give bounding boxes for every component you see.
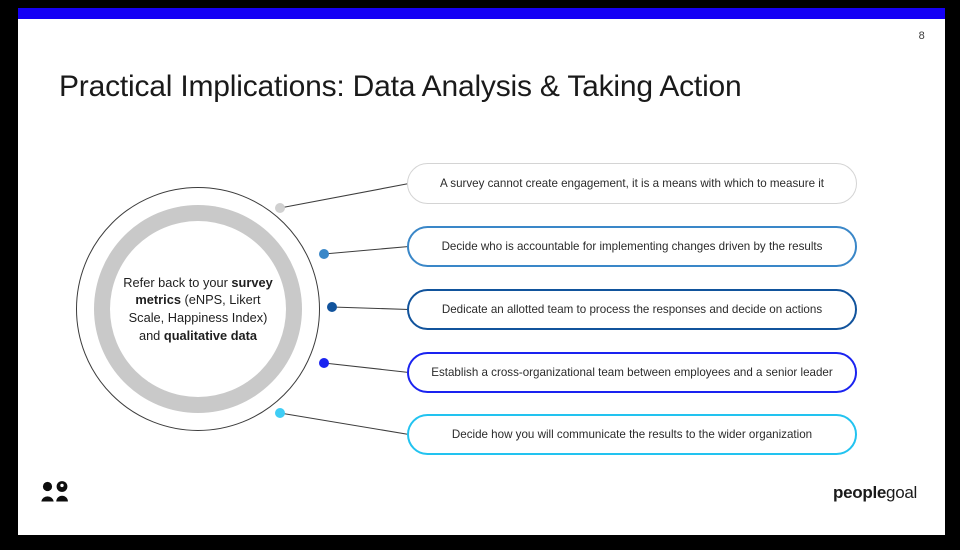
connector-dot-4	[319, 358, 329, 368]
hub-text: Refer back to your survey metrics (eNPS,…	[122, 274, 274, 344]
connector-line-3	[332, 307, 409, 310]
connector-line-2	[324, 247, 409, 255]
brand-name-bold: people	[833, 483, 886, 502]
connector-line-1	[280, 184, 409, 209]
connector-dot-5	[275, 408, 285, 418]
hub-text-run: Refer back to your	[123, 275, 231, 290]
brand-logo: peoplegoal	[833, 483, 917, 503]
callout-pill-5[interactable]: Decide how you will communicate the resu…	[407, 414, 857, 455]
connector-dot-2	[319, 249, 329, 259]
callout-label: Dedicate an allotted team to process the…	[426, 303, 838, 317]
callout-label: Decide how you will communicate the resu…	[436, 428, 828, 442]
connector-line-5	[280, 413, 409, 435]
hub-inner-disc: Refer back to your survey metrics (eNPS,…	[110, 221, 286, 397]
slide-canvas: 8 Practical Implications: Data Analysis …	[18, 8, 945, 535]
callout-label: Establish a cross-organizational team be…	[415, 366, 849, 380]
slide-frame: 8 Practical Implications: Data Analysis …	[0, 0, 960, 550]
callout-label: A survey cannot create engagement, it is…	[424, 177, 840, 191]
callout-pill-4[interactable]: Establish a cross-organizational team be…	[407, 352, 857, 393]
callout-pill-2[interactable]: Decide who is accountable for implementi…	[407, 226, 857, 267]
connector-dot-3	[327, 302, 337, 312]
callout-pill-3[interactable]: Dedicate an allotted team to process the…	[407, 289, 857, 330]
callout-label: Decide who is accountable for implementi…	[426, 240, 839, 254]
brand-name-light: goal	[886, 483, 917, 502]
hub-text-emphasis: qualitative data	[164, 328, 257, 343]
callout-pill-1[interactable]: A survey cannot create engagement, it is…	[407, 163, 857, 204]
connector-dot-1	[275, 203, 285, 213]
people-icon	[40, 481, 70, 503]
hub-and-spoke-diagram: Refer back to your survey metrics (eNPS,…	[18, 8, 945, 535]
connector-line-4	[324, 363, 409, 373]
